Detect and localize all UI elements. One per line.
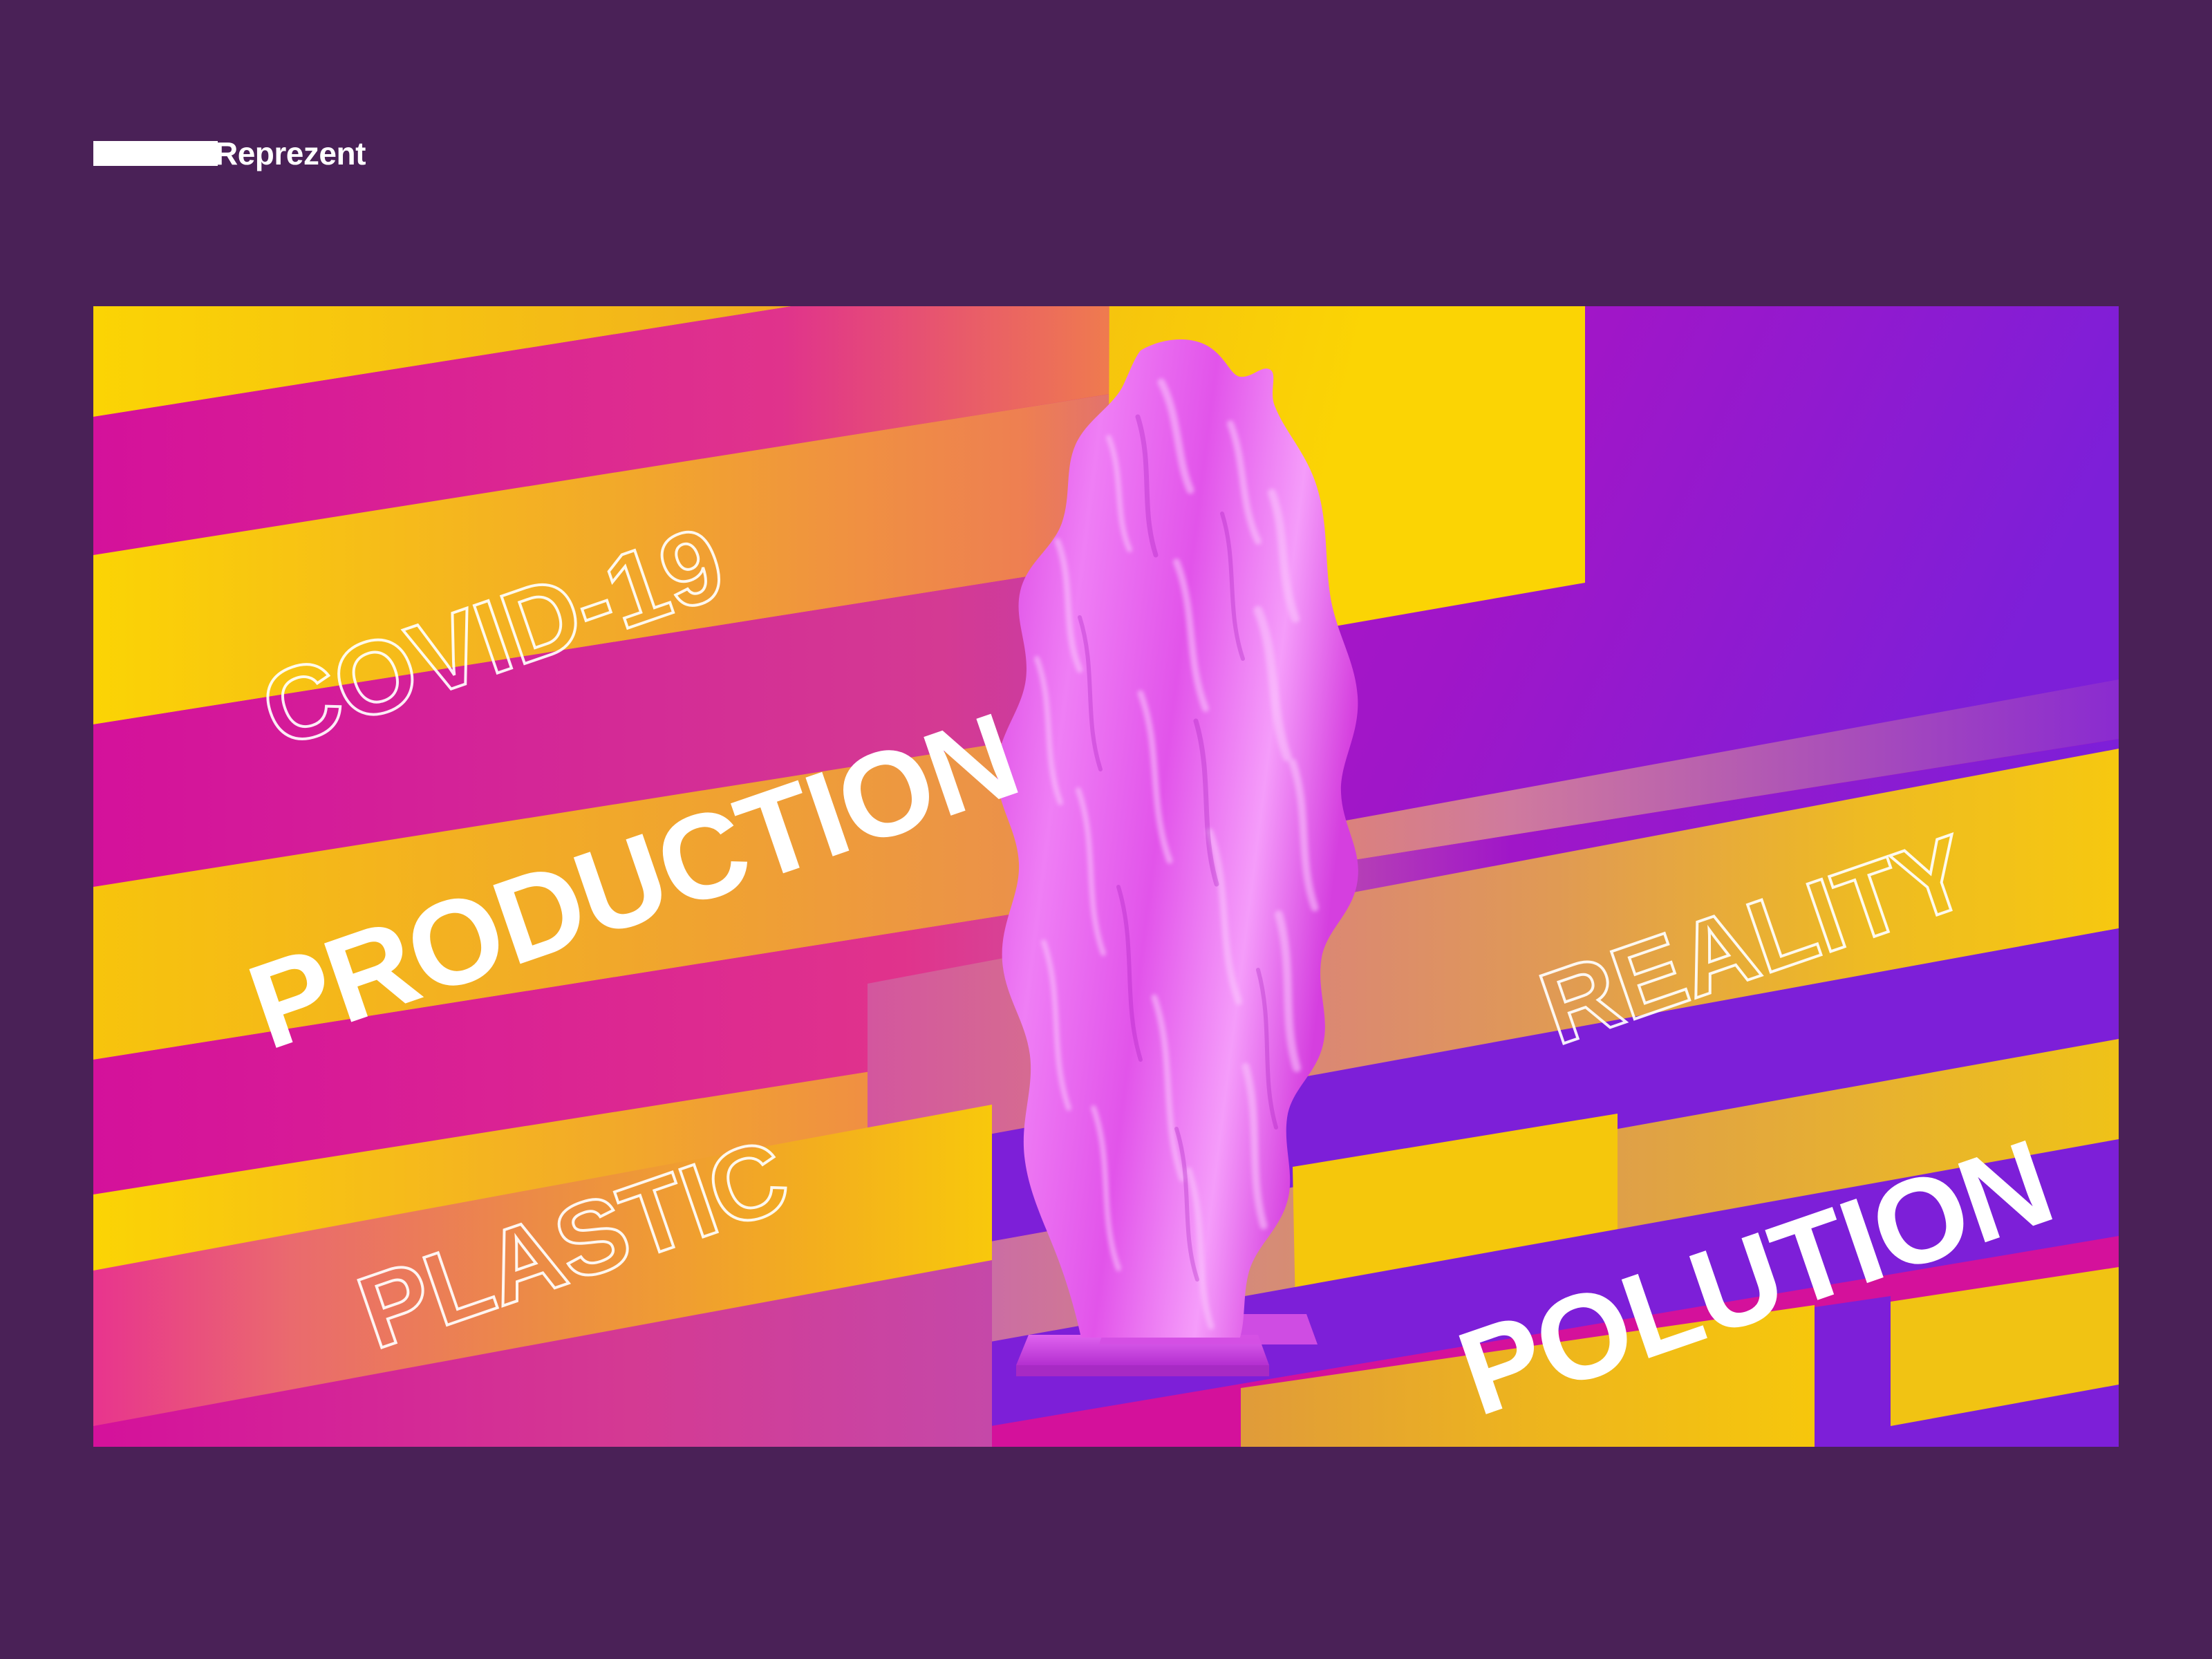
hero-label-production: PRODUCTION <box>238 703 1028 1062</box>
hero-label-plastic: PLASTIC <box>349 1130 798 1358</box>
hero-label-reality: REALITY <box>1531 825 1980 1054</box>
hero-panel: COVID-19PRODUCTIONPLASTIC+31%REALITYPOLU… <box>93 306 2119 1447</box>
hero-label-polution: POLUTION <box>1448 1130 2063 1427</box>
logo-wordmark: Reprezent <box>215 138 366 169</box>
hero-word-layer: COVID-19PRODUCTIONPLASTIC+31%REALITYPOLU… <box>93 306 2119 1447</box>
logo-bar <box>93 141 218 166</box>
hero-label-covid: COVID-19 <box>252 517 733 757</box>
brand-logo[interactable]: Reprezent <box>93 135 366 171</box>
